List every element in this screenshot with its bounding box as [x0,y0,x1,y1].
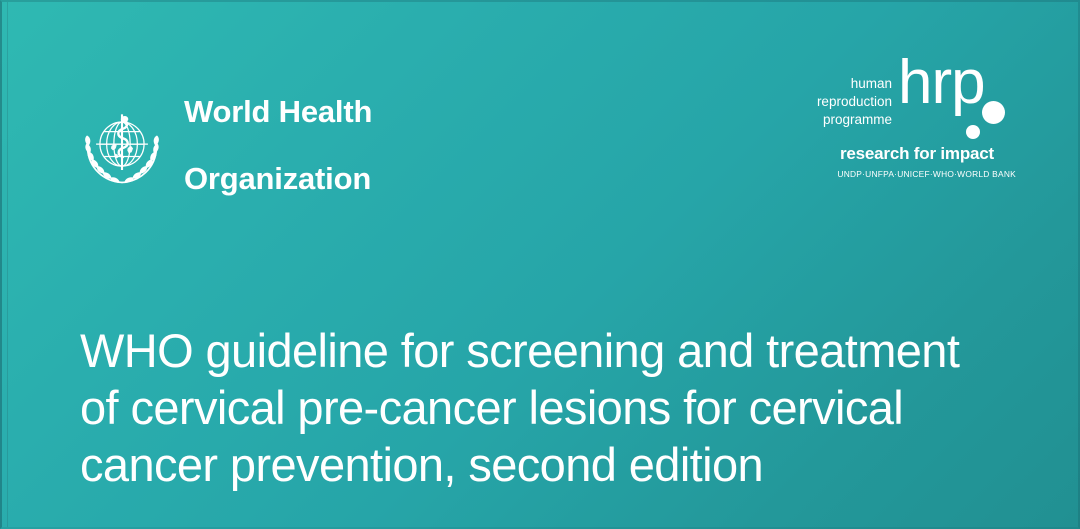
title-line-1: WHO guideline for screening and treatmen… [80,322,1020,379]
hrp-partner-organizations: UNDP·UNFPA·UNICEF·WHO·WORLD BANK [792,169,1022,179]
hrp-descriptor-line2: reproduction [817,93,892,111]
hrp-wordmark: hrp [898,52,985,114]
hrp-descriptor-line3: programme [817,111,892,129]
title-line-2: of cervical pre-cancer lesions for cervi… [80,379,1020,436]
hrp-small-dot-icon [966,125,980,139]
who-wordmark: World Health Organization [184,62,372,229]
publication-cover-slide: World Health Organization human reproduc… [0,0,1080,529]
page-title: WHO guideline for screening and treatmen… [80,322,1020,493]
title-line-3: cancer prevention, second edition [80,436,1020,493]
who-emblem-icon [74,98,170,194]
who-wordmark-line2: Organization [184,162,372,195]
who-wordmark-line1: World Health [184,95,372,128]
hrp-descriptor-line1: human [817,75,892,93]
hrp-logo: human reproduction programme hrp researc… [792,68,1022,179]
hrp-large-dot-icon [982,101,1005,124]
who-logo: World Health Organization [74,62,372,229]
hrp-wordmark-group: hrp [898,68,1022,142]
hrp-descriptor: human reproduction programme [817,68,892,128]
hrp-tagline: research for impact [792,144,1022,164]
hrp-top-row: human reproduction programme hrp [792,68,1022,142]
